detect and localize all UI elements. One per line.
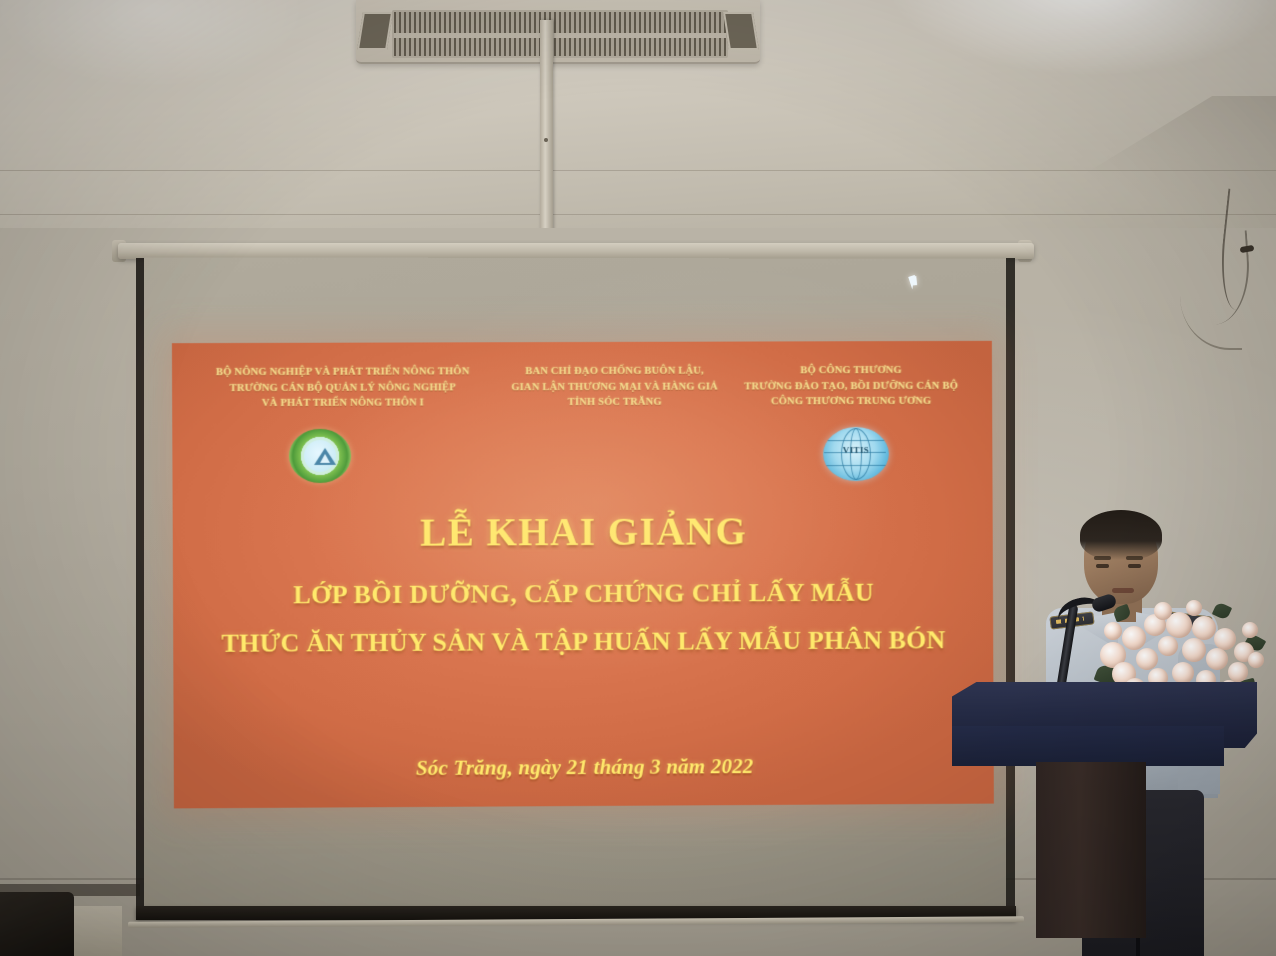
bouquet-rose <box>1228 662 1248 682</box>
speaker-mouth <box>1112 588 1134 593</box>
bouquet-rose <box>1248 652 1264 668</box>
header-left-line-3: VÀ PHÁT TRIỂN NÔNG THÔN I <box>194 395 491 411</box>
globe-parallel <box>824 465 886 466</box>
bouquet-rose <box>1186 600 1202 616</box>
bouquet-rose <box>1154 602 1172 620</box>
slide-header-right: BỘ CÔNG THƯƠNG TRƯỜNG ĐÀO TẠO, BỒI DƯỠNG… <box>738 363 964 410</box>
vitis-logo-label: VITIS <box>823 445 889 455</box>
bouquet-rose <box>1158 636 1178 656</box>
slide-header-middle: BAN CHỈ ĐẠO CHỐNG BUÔN LẬU, GIAN LẬN THƯ… <box>491 364 738 411</box>
bouquet-rose <box>1122 626 1146 650</box>
bouquet-rose <box>1192 616 1216 640</box>
header-middle-line-3: TỈNH SÓC TRĂNG <box>491 395 738 411</box>
slide-date-line: Sóc Trăng, ngày 21 tháng 3 năm 2022 <box>174 753 994 783</box>
speaker-hair <box>1080 510 1162 560</box>
agriculture-school-emblem-icon <box>289 429 351 483</box>
bouquet-rose <box>1182 638 1206 662</box>
header-left-line-2: TRƯỜNG CÁN BỘ QUẢN LÝ NÔNG NGHIỆP <box>194 380 491 396</box>
bouquet-leaf <box>1212 601 1232 620</box>
bouquet-rose <box>1214 628 1236 650</box>
globe-parallel <box>824 440 886 441</box>
photo-scene: BỘ NÔNG NGHIỆP VÀ PHÁT TRIỂN NÔNG THÔN T… <box>0 0 1276 956</box>
emblem-inner-triangle-icon <box>320 454 330 463</box>
corner-dark-object <box>0 892 74 956</box>
speaker-eyebrow <box>1126 556 1143 560</box>
ceiling-seam <box>0 170 1276 171</box>
slide-header-row: BỘ NÔNG NGHIỆP VÀ PHÁT TRIỂN NÔNG THÔN T… <box>172 363 992 412</box>
bouquet-leaf <box>1112 604 1132 623</box>
projector-mount-pole <box>540 20 553 246</box>
vitis-globe-emblem-icon: VITIS <box>823 427 889 481</box>
header-right-line-2: TRƯỜNG ĐÀO TẠO, BỒI DƯỠNG CÁN BỘ <box>738 378 964 394</box>
speaker-eye <box>1096 564 1109 568</box>
ceiling-air-conditioner-grille <box>356 0 760 64</box>
header-middle-line-2: GIAN LẬN THƯƠNG MẠI VÀ HÀNG GIẢ <box>491 379 738 395</box>
ac-grille-icon <box>392 10 728 58</box>
bouquet-rose <box>1136 648 1158 670</box>
speaker-eye <box>1128 564 1141 568</box>
podium-front-panel <box>952 726 1224 766</box>
podium <box>952 682 1257 956</box>
slide-subtitle-line-1: LỚP BỒI DƯỠNG, CẤP CHỨNG CHỈ LẤY MẪU <box>173 577 993 611</box>
projected-slide: BỘ NÔNG NGHIỆP VÀ PHÁT TRIỂN NÔNG THÔN T… <box>172 341 994 809</box>
bouquet-rose <box>1172 662 1194 684</box>
slide-subtitle-line-2: THỨC ĂN THỦY SẢN VÀ TẬP HUẤN LẤY MẪU PHÂ… <box>173 625 993 659</box>
podium-column <box>1036 762 1146 938</box>
slide-logo-row: VITIS <box>172 427 992 490</box>
ac-vent-left-icon <box>357 12 393 50</box>
header-right-line-1: BỘ CÔNG THƯƠNG <box>738 363 964 379</box>
bouquet-rose <box>1104 622 1122 640</box>
speaker-eyebrow <box>1094 556 1111 560</box>
bouquet-rose <box>1206 648 1228 670</box>
bouquet-rose <box>1242 622 1258 638</box>
ac-vent-right-icon <box>723 12 759 50</box>
header-middle-line-1: BAN CHỈ ĐẠO CHỐNG BUÔN LẬU, <box>491 364 738 380</box>
header-right-line-3: CÔNG THƯƠNG TRUNG ƯƠNG <box>738 394 964 410</box>
slide-header-left: BỘ NÔNG NGHIỆP VÀ PHÁT TRIỂN NÔNG THÔN T… <box>194 364 491 412</box>
corner-box <box>66 906 122 956</box>
header-left-line-1: BỘ NÔNG NGHIỆP VÀ PHÁT TRIỂN NÔNG THÔN <box>194 364 491 380</box>
slide-title: LỄ KHAI GIẢNG <box>173 508 993 556</box>
